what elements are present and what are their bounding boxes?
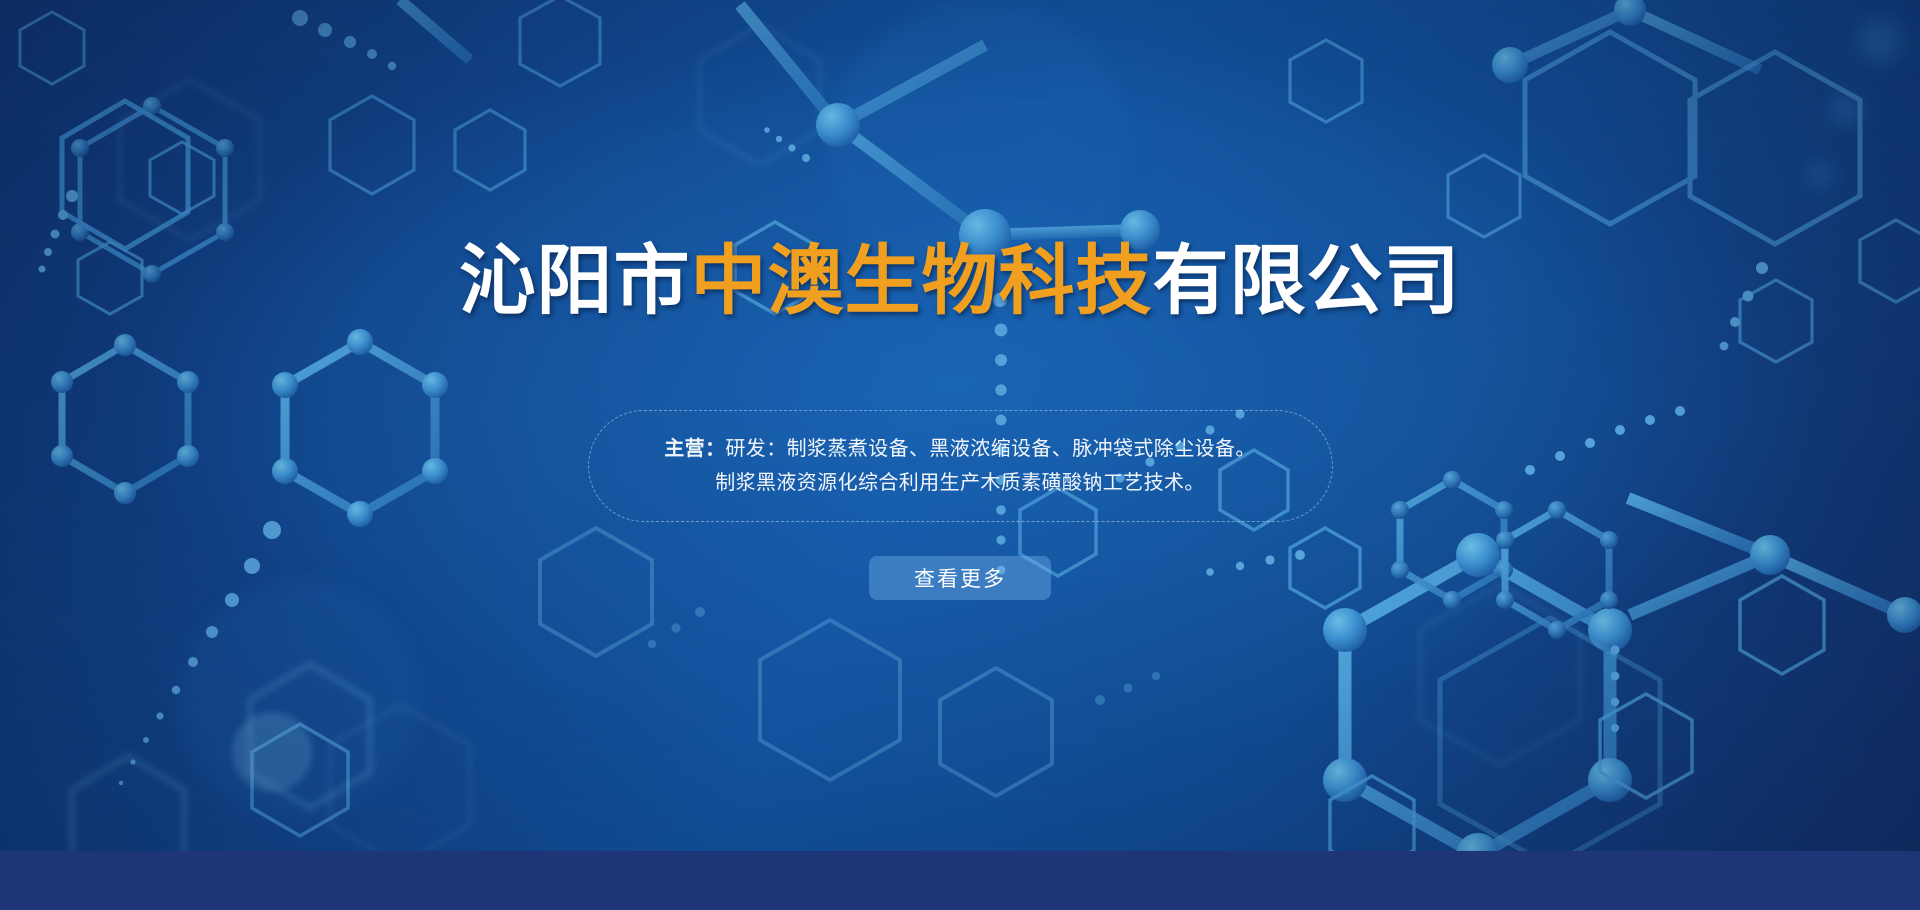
- title-accent: 中澳生物科技: [691, 236, 1153, 325]
- tagline-label: 主营：: [664, 436, 725, 460]
- tagline-line-2: 制浆黑液资源化综合利用生产木质素磺酸钠工艺技术。: [619, 465, 1302, 499]
- hero-banner: 沁阳市中澳生物科技有限公司 主营：研发：制浆蒸煮设备、黑液浓缩设备、脉冲袋式除尘…: [0, 0, 1920, 851]
- hero-content: 沁阳市中澳生物科技有限公司 主营：研发：制浆蒸煮设备、黑液浓缩设备、脉冲袋式除尘…: [0, 0, 1920, 851]
- page-title: 沁阳市中澳生物科技有限公司: [460, 240, 1461, 322]
- view-more-label: 查看更多: [914, 563, 1006, 593]
- tagline-text-1: 研发：制浆蒸煮设备、黑液浓缩设备、脉冲袋式除尘设备。: [725, 436, 1255, 460]
- bottom-bar: [0, 851, 1920, 910]
- tagline-line-1: 主营：研发：制浆蒸煮设备、黑液浓缩设备、脉冲袋式除尘设备。: [619, 431, 1302, 465]
- view-more-button[interactable]: 查看更多: [869, 556, 1051, 600]
- page-root: 沁阳市中澳生物科技有限公司 主营：研发：制浆蒸煮设备、黑液浓缩设备、脉冲袋式除尘…: [0, 0, 1920, 910]
- title-prefix: 沁阳市: [460, 236, 691, 325]
- tagline-box: 主营：研发：制浆蒸煮设备、黑液浓缩设备、脉冲袋式除尘设备。 制浆黑液资源化综合利…: [588, 410, 1333, 522]
- title-suffix: 有限公司: [1153, 236, 1461, 325]
